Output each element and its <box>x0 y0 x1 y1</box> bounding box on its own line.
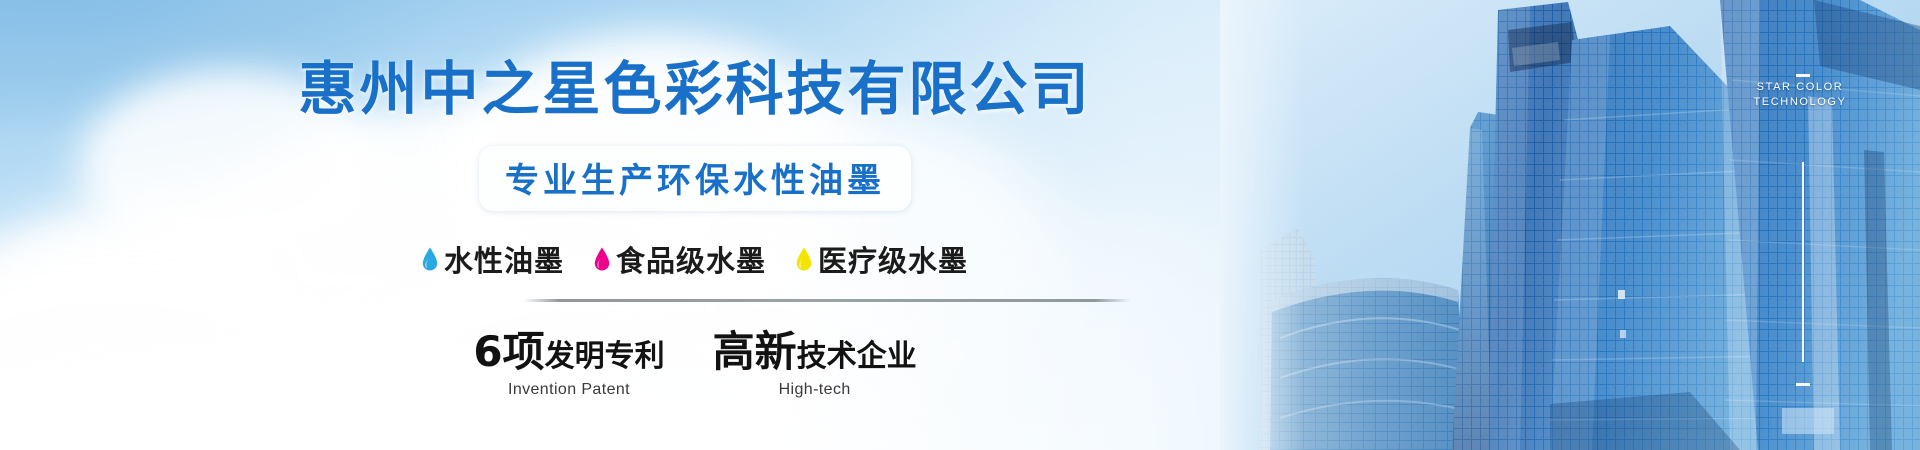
water-drop-icon <box>796 247 812 271</box>
feature-list: 水性油墨 食品级水墨 医疗级水墨 <box>0 238 1390 280</box>
badge-cn-highlight: 高新 <box>713 327 797 376</box>
badge-cn-rest: 技术企业 <box>797 339 917 374</box>
banner-content: 惠州中之星色彩科技有限公司 专业生产环保水性油墨 水性油墨 食品级水墨 <box>0 0 1390 450</box>
company-title: 惠州中之星色彩科技有限公司 <box>0 56 1390 124</box>
badge-cn-text: 6项发明专利 <box>473 330 664 379</box>
section-divider <box>523 299 1131 302</box>
buildings-label-line1: STAR COLOR <box>1715 80 1885 95</box>
marker-dash-top <box>1796 74 1810 77</box>
feature-item: 食品级水墨 <box>594 238 766 280</box>
badge-en-text: Invention Patent <box>473 381 664 399</box>
badge-cn-text: 高新技术企业 <box>713 330 917 379</box>
buildings-label-line2: TECHNOLOGY <box>1715 95 1885 110</box>
badge-en-text: High-tech <box>713 381 917 399</box>
feature-label: 水性油墨 <box>444 238 564 280</box>
badge-cn-highlight: 6项 <box>473 327 544 376</box>
badge-list: 6项发明专利 Invention Patent 高新技术企业 High-tech <box>0 330 1390 399</box>
feature-label: 医疗级水墨 <box>818 238 968 280</box>
feature-label: 食品级水墨 <box>616 238 766 280</box>
badge-item: 高新技术企业 High-tech <box>713 330 917 399</box>
marker-vertical-rule <box>1802 162 1804 362</box>
promo-banner: Star Color <box>0 0 1920 450</box>
feature-item: 水性油墨 <box>422 238 564 280</box>
subtitle-pill: 专业生产环保水性油墨 <box>479 146 911 211</box>
badge-item: 6项发明专利 Invention Patent <box>473 330 664 399</box>
feature-item: 医疗级水墨 <box>796 238 968 280</box>
buildings-label: STAR COLOR TECHNOLOGY <box>1715 80 1885 110</box>
marker-dash-bottom <box>1796 383 1810 386</box>
water-drop-icon <box>594 247 610 271</box>
water-drop-icon <box>422 247 438 271</box>
badge-cn-rest: 发明专利 <box>545 339 665 374</box>
subtitle-row: 专业生产环保水性油墨 <box>0 146 1390 211</box>
